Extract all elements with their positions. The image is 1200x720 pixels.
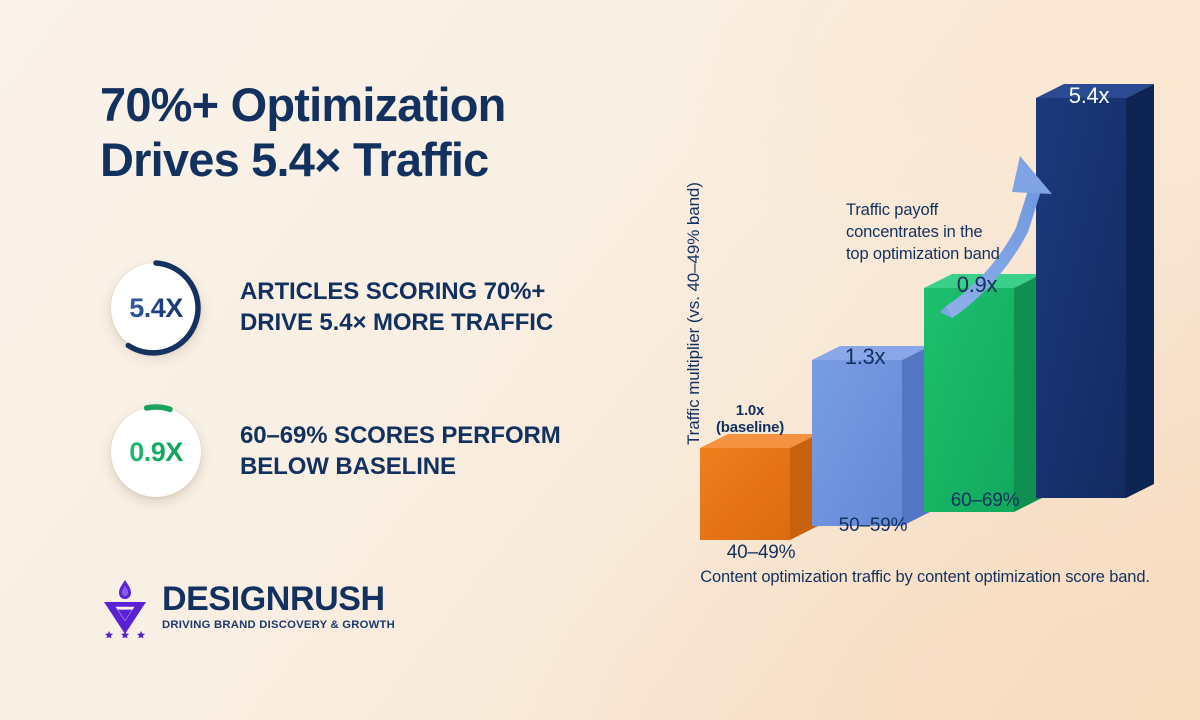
- stat-line-1: 60–69% SCORES PERFORM: [240, 421, 620, 452]
- stat-line-1: ARTICLES SCORING 70%+: [240, 277, 620, 308]
- logo-tagline: DRIVING BRAND DISCOVERY & GROWTH: [162, 620, 395, 631]
- bar-70-plus: [1036, 84, 1154, 498]
- title-line-1: 70%+ Optimization: [100, 78, 640, 133]
- category-label-70-plus: 70%+: [1038, 475, 1164, 497]
- logo-wordmark: DESIGNRUSH DRIVING BRAND DISCOVERY & GRO…: [162, 582, 395, 631]
- bar-50-59: [812, 346, 930, 526]
- annotation-line-3: top optimization band: [846, 244, 1066, 266]
- designrush-logo: DESIGNRUSH DRIVING BRAND DISCOVERY & GRO…: [96, 576, 395, 638]
- annotation-line-2: concentrates in the: [846, 222, 1066, 244]
- bar-value-label-50-59: 1.3x: [820, 344, 910, 370]
- stat-description: ARTICLES SCORING 70%+ DRIVE 5.4× MORE TR…: [240, 277, 620, 338]
- stat-row-traffic-multiplier: 5.4X ARTICLES SCORING 70%+ DRIVE 5.4× MO…: [104, 256, 620, 360]
- stat-description: 60–69% SCORES PERFORM BELOW BASELINE: [240, 421, 620, 482]
- designrush-torch-icon: [96, 576, 154, 638]
- chart-annotation: Traffic payoff concentrates in the top o…: [846, 200, 1066, 266]
- bar-40-49: [690, 434, 818, 540]
- category-label-50-59: 50–59%: [810, 515, 936, 537]
- bar-value-label-70-plus: 5.4x: [1044, 83, 1134, 109]
- stat-badge-0-9x: 0.9X: [104, 400, 208, 504]
- category-label-60-69: 60–69%: [922, 490, 1048, 512]
- bar-60-69: [924, 274, 1042, 512]
- stat-line-2: BELOW BASELINE: [240, 452, 620, 483]
- page-title: 70%+ Optimization Drives 5.4× Traffic: [100, 78, 640, 188]
- bar-value-label-60-69: 0.9x: [932, 272, 1022, 298]
- bar-value-label-40-49: 1.0x (baseline): [704, 403, 796, 437]
- chart-caption: Content optimization traffic by content …: [660, 568, 1190, 587]
- stat-badge-5-4x: 5.4X: [104, 256, 208, 360]
- bar-chart-graphic: [650, 60, 1180, 590]
- bar-chart: Traffic multiplier (vs. 40–49% band): [650, 60, 1180, 620]
- badge-value: 0.9X: [104, 400, 208, 504]
- logo-name: DESIGNRUSH: [162, 582, 395, 616]
- annotation-line-1: Traffic payoff: [846, 200, 1066, 222]
- title-line-2: Drives 5.4× Traffic: [100, 133, 640, 188]
- stat-row-below-baseline: 0.9X 60–69% SCORES PERFORM BELOW BASELIN…: [104, 400, 620, 504]
- badge-value: 5.4X: [104, 256, 208, 360]
- stat-line-2: DRIVE 5.4× MORE TRAFFIC: [240, 308, 620, 339]
- infographic-canvas: 70%+ Optimization Drives 5.4× Traffic 5.…: [0, 0, 1200, 720]
- category-label-40-49: 40–49%: [698, 542, 824, 564]
